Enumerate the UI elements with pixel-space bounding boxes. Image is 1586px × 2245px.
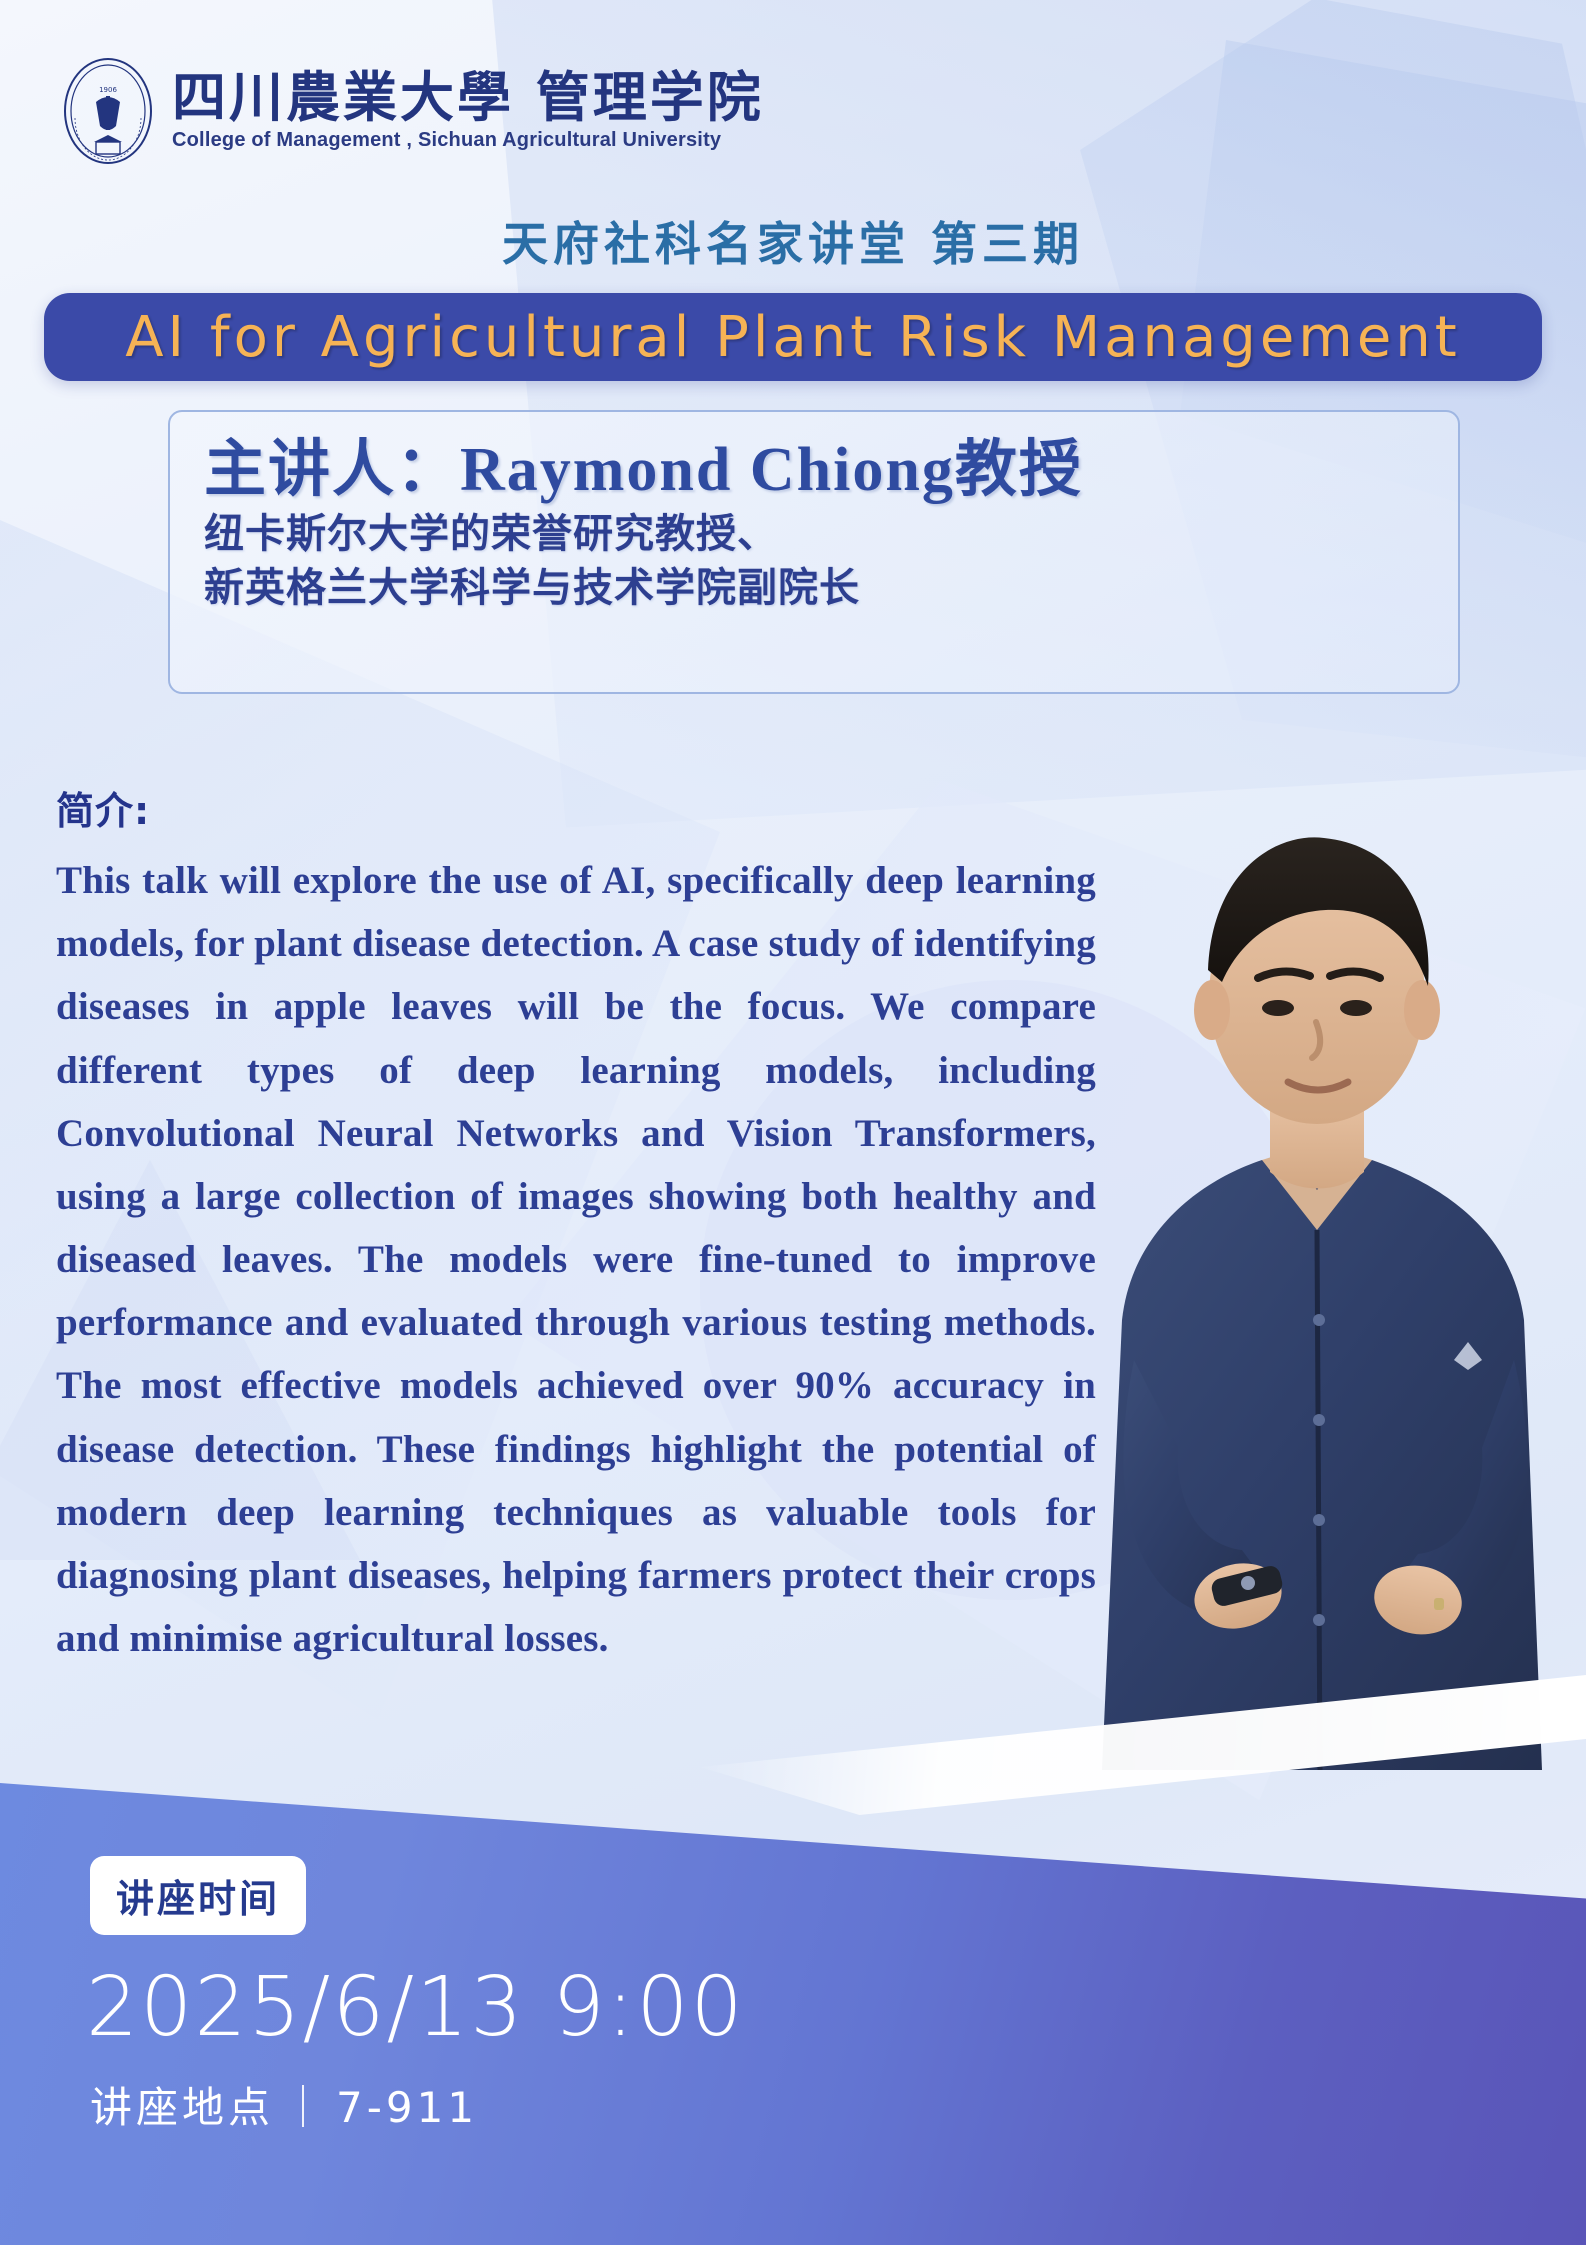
venue-value: 7-911 [336, 2083, 478, 2132]
lecture-datetime: 2025/6/13 9:00 [86, 1960, 745, 2055]
speaker-affiliation-2: 新英格兰大学科学与技术学院副院长 [204, 561, 1424, 615]
main-title-banner: AI for Agricultural Plant Risk Managemen… [44, 293, 1542, 381]
university-seal-icon: 1906 [62, 56, 154, 166]
lecture-venue: 讲座地点｜7-911 [90, 2074, 478, 2135]
speaker-affiliation-1: 纽卡斯尔大学的荣誉研究教授、 [204, 507, 1424, 561]
svg-text:1906: 1906 [99, 86, 117, 94]
abstract-body: This talk will explore the use of AI, sp… [56, 849, 1096, 1670]
venue-separator: ｜ [274, 2083, 336, 2132]
logo-english-name: College of Management , Sichuan Agricult… [172, 129, 764, 152]
university-logo-header: 1906 四川農業大學 管理学院 College of Management ,… [62, 56, 764, 166]
venue-label: 讲座地点 [90, 2083, 274, 2132]
speaker-name: 主讲人：Raymond Chiong教授 [204, 434, 1424, 507]
abstract-section: 简介: This talk will explore the use of AI… [56, 780, 1096, 1670]
main-title-text: AI for Agricultural Plant Risk Managemen… [125, 305, 1461, 370]
abstract-label: 简介: [56, 780, 1096, 835]
speaker-photo [1062, 760, 1562, 1840]
series-title: 天府社科名家讲堂 第三期 [0, 208, 1586, 274]
logo-chinese-name: 四川農業大學 管理学院 [172, 70, 764, 127]
lecture-poster: 1906 四川農業大學 管理学院 College of Management ,… [0, 0, 1586, 2245]
speaker-info-box: 主讲人：Raymond Chiong教授 纽卡斯尔大学的荣誉研究教授、 新英格兰… [168, 410, 1460, 694]
lecture-time-badge: 讲座时间 [90, 1856, 306, 1935]
